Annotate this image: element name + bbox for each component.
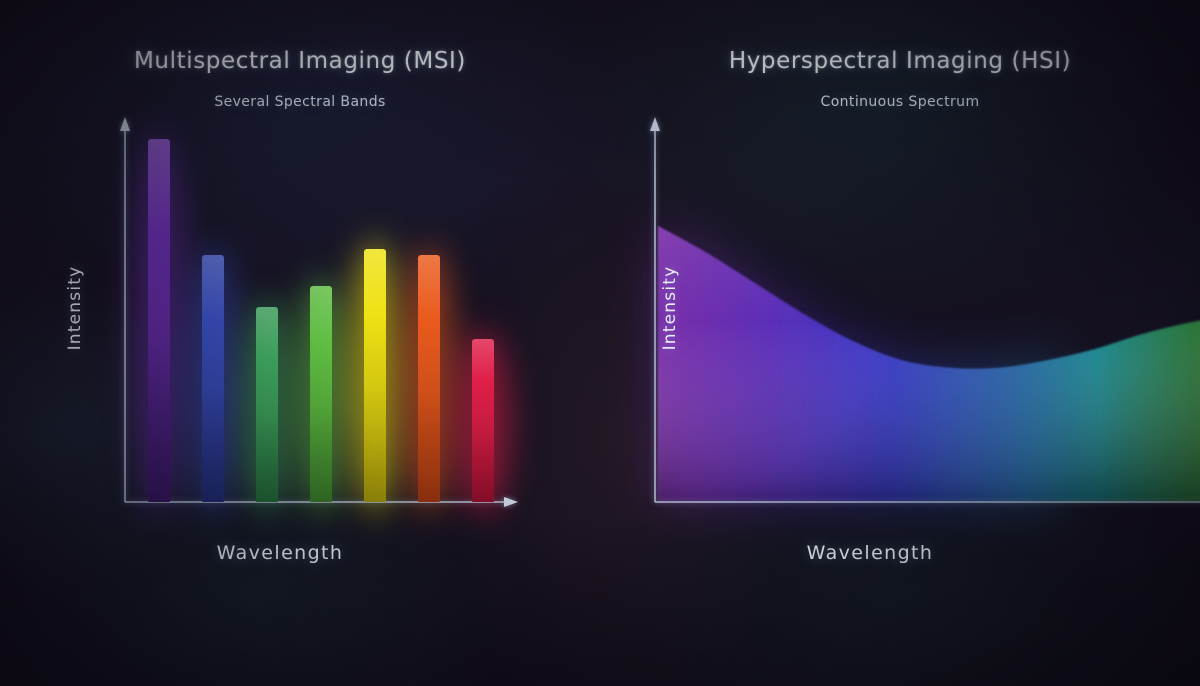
hsi-x-axis-label: Wavelength [600, 542, 1140, 564]
bar-red [472, 339, 494, 502]
figure-canvas: Multispectral Imaging (MSI) Several Spec… [0, 0, 1200, 686]
hsi-curve-bloom [640, 200, 1060, 520]
hsi-spectrum-area [600, 0, 1200, 686]
panel-hsi: Hyperspectral Imaging (HSI) Continuous S… [600, 0, 1200, 686]
bar-violet [148, 139, 170, 502]
msi-bars [0, 0, 600, 686]
hsi-y-axis-label: Intensity [660, 228, 680, 388]
hsi-area-shading [658, 226, 1200, 502]
msi-y-axis-label: Intensity [65, 228, 85, 388]
hsi-spectrum-curve [600, 0, 1200, 686]
msi-x-axis-label: Wavelength [0, 542, 560, 564]
hsi-area-path [658, 226, 1200, 502]
bar-green-yellow [310, 286, 332, 502]
panel-msi: Multispectral Imaging (MSI) Several Spec… [0, 0, 600, 686]
bar-yellow [364, 249, 386, 502]
bar-blue [202, 255, 224, 502]
bar-orange [418, 255, 440, 502]
bar-green [256, 307, 278, 502]
